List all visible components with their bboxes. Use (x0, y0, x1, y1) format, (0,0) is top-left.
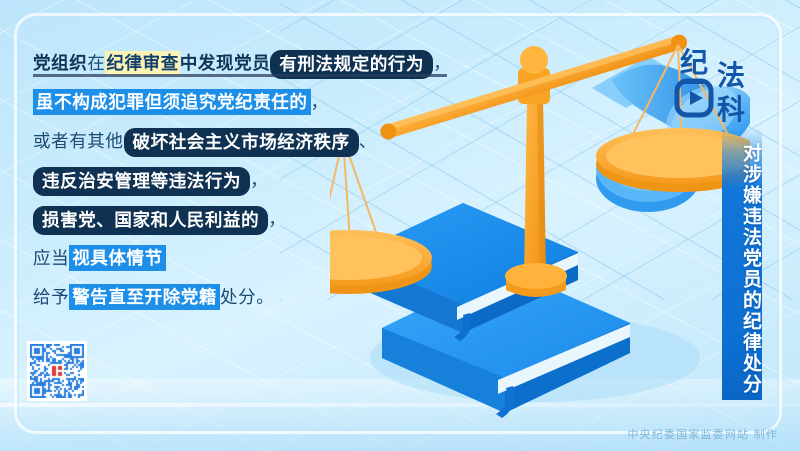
scale-knob (520, 46, 548, 74)
logo-char-ji: 纪 (680, 47, 708, 78)
text-segment-norm: 在 (87, 53, 105, 73)
text-line-2: 虽不构成犯罪但须追究党纪责任的， (33, 83, 463, 122)
text-line-6: 应当视具体情节 (33, 239, 463, 278)
text-segment-punct: ， (250, 170, 268, 190)
text-underline (33, 74, 447, 77)
text-segment-punct: ， (311, 92, 329, 112)
text-segment-norm: 或者有其他 (33, 131, 124, 151)
qr-code[interactable] (27, 341, 87, 401)
logo-char-ke: 科 (717, 94, 745, 125)
vertical-title-banner: 对涉嫌违法党员的纪律处分 (722, 128, 762, 400)
text-line-1: 党组织在纪律审查中发现党员有刑法规定的行为， (33, 44, 463, 83)
text-segment-norm: 处分。 (220, 287, 274, 307)
text-segment-hl-blue: 虽不构成犯罪但须追究党纪责任的 (33, 89, 311, 115)
logo-char-fa: 法 (717, 60, 745, 91)
text-segment-bold: 中发现党员 (180, 53, 271, 73)
text-segment-pill: 损害党、国家和人民利益的 (33, 206, 268, 235)
text-segment-punct: 、 (359, 131, 377, 151)
text-segment-punct: ， (268, 209, 286, 229)
text-segment-pill: 破坏社会主义市场经济秩序 (124, 128, 359, 157)
text-segment-hl-blue: 警告直至开除党籍 (69, 284, 220, 310)
body-text-block: 党组织在纪律审查中发现党员有刑法规定的行为，虽不构成犯罪但须追究党纪责任的，或者… (33, 44, 463, 317)
text-line-3: 或者有其他破坏社会主义市场经济秩序、 (33, 122, 463, 161)
text-segment-norm: 给予 (33, 287, 69, 307)
infographic-canvas: 党组织在纪律审查中发现党员有刑法规定的行为，虽不构成犯罪但须追究党纪责任的，或者… (0, 0, 800, 451)
play-icon (690, 91, 703, 105)
text-segment-hl-blue: 视具体情节 (69, 245, 166, 271)
text-segment-norm: 应当 (33, 248, 69, 268)
text-line-5: 损害党、国家和人民利益的， (33, 200, 463, 239)
text-segment-punct: ， (433, 53, 451, 73)
text-line-4: 违反治安管理等违法行为， (33, 161, 463, 200)
text-line-7: 给予警告直至开除党籍处分。 (33, 278, 463, 317)
brand-logo[interactable]: 纪 法 科 (671, 41, 767, 127)
text-segment-pill: 违反治安管理等违法行为 (33, 167, 250, 196)
text-segment-bold: 党组织 (33, 53, 87, 73)
text-segment-hl-yellow: 纪律审查 (105, 51, 179, 75)
logo-char-bai (677, 79, 711, 115)
credit-text: 中央纪委国家监委网站 制作 (627, 426, 778, 442)
